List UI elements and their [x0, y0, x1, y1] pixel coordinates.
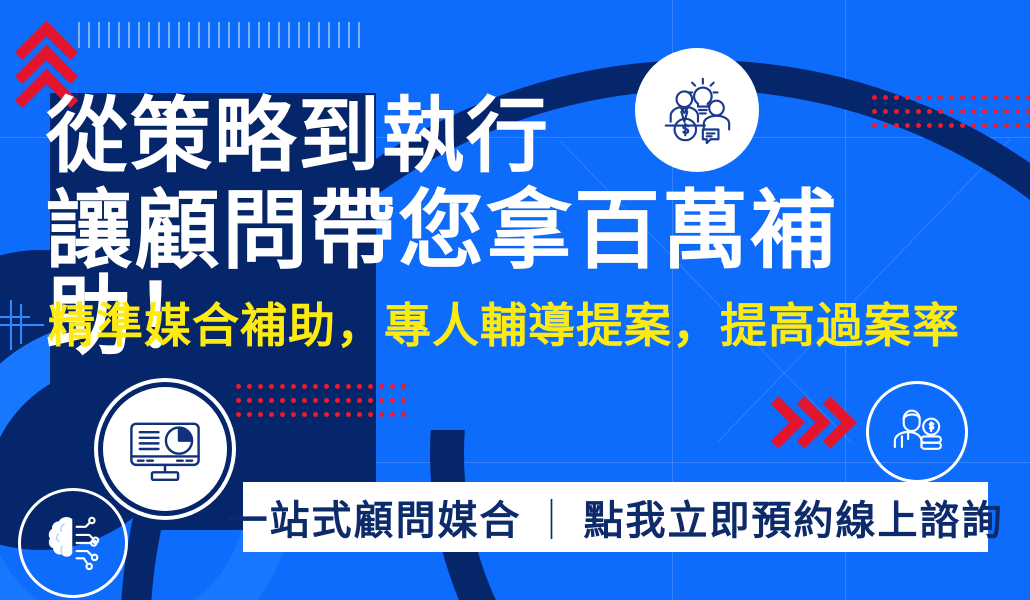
tick-mark: [208, 22, 210, 48]
dot: [280, 384, 285, 389]
dot: [269, 412, 274, 417]
dot: [291, 384, 296, 389]
dot: [379, 412, 384, 417]
dot: [1026, 109, 1030, 114]
dot: [368, 412, 373, 417]
tick-mark: [328, 22, 330, 48]
tick-mark: [278, 22, 280, 48]
headline-line-1: 從策略到執行: [46, 96, 1006, 178]
dot: [368, 398, 373, 403]
cta-button[interactable]: 一站式顧問媒合 ｜ 點我立即預約線上諮詢: [243, 482, 988, 552]
tick-mark: [128, 22, 130, 48]
dot: [313, 412, 318, 417]
dot: [390, 384, 395, 389]
dot: [1026, 123, 1030, 128]
dot: [335, 384, 340, 389]
consultant-money-icon: [866, 381, 968, 483]
brain-circuit-icon: [18, 488, 128, 598]
cta-right-label: 點我立即預約線上諮詢: [584, 488, 1004, 546]
dot: [258, 398, 263, 403]
dot: [247, 412, 252, 417]
dot: [401, 398, 406, 403]
dot: [346, 412, 351, 417]
chevron-right-triple-icon: [760, 400, 850, 440]
tick-mark: [158, 22, 160, 48]
tick-mark: [178, 22, 180, 48]
dot: [247, 398, 252, 403]
tick-mark: [268, 22, 270, 48]
dot: [346, 398, 351, 403]
tick-mark: [258, 22, 260, 48]
dot: [357, 384, 362, 389]
dot: [280, 398, 285, 403]
dot: [258, 384, 263, 389]
dot: [335, 398, 340, 403]
tick-mark: [228, 22, 230, 48]
decor-dot-grid: [236, 384, 412, 426]
dot: [324, 384, 329, 389]
dot: [269, 384, 274, 389]
decor-crosshair-icon: [0, 300, 44, 350]
tick-mark: [238, 22, 240, 48]
dot: [247, 384, 252, 389]
dot: [390, 412, 395, 417]
dot: [236, 384, 241, 389]
dot: [1015, 109, 1020, 114]
tick-mark: [168, 22, 170, 48]
dot: [236, 412, 241, 417]
dot: [368, 384, 373, 389]
tick-mark: [108, 22, 110, 48]
dot: [401, 384, 406, 389]
cta-left-label: 一站式顧問媒合: [228, 488, 522, 546]
tick-mark: [298, 22, 300, 48]
decor-tick-marks: [78, 22, 360, 48]
dot: [357, 398, 362, 403]
tick-mark: [358, 22, 360, 48]
dot: [302, 412, 307, 417]
tick-mark: [218, 22, 220, 48]
tick-mark: [138, 22, 140, 48]
dot: [346, 384, 351, 389]
dot: [357, 412, 362, 417]
tick-mark: [198, 22, 200, 48]
tick-mark: [348, 22, 350, 48]
dot: [313, 398, 318, 403]
dot: [302, 384, 307, 389]
tick-mark: [338, 22, 340, 48]
dot: [401, 412, 406, 417]
promo-banner: 從策略到執行 讓顧問帶您拿百萬補助！ 精準媒合補助，專人輔導提案，提高過案率 一…: [0, 0, 1030, 600]
dot: [313, 384, 318, 389]
dot: [335, 412, 340, 417]
tick-mark: [248, 22, 250, 48]
tick-mark: [88, 22, 90, 48]
dot: [291, 398, 296, 403]
subheadline: 精準媒合補助，專人輔導提案，提高過案率: [48, 300, 1008, 352]
dot: [302, 398, 307, 403]
dot: [258, 412, 263, 417]
dot: [236, 398, 241, 403]
cta-separator: ｜: [522, 488, 584, 546]
tick-mark: [288, 22, 290, 48]
dot: [280, 412, 285, 417]
tick-mark: [318, 22, 320, 48]
dot: [1015, 123, 1020, 128]
tick-mark: [308, 22, 310, 48]
dot: [1015, 95, 1020, 100]
dot: [1026, 95, 1030, 100]
tick-mark: [98, 22, 100, 48]
tick-mark: [148, 22, 150, 48]
dot: [390, 398, 395, 403]
dot: [324, 398, 329, 403]
dot: [379, 398, 384, 403]
dot: [291, 412, 296, 417]
dot: [269, 398, 274, 403]
tick-mark: [188, 22, 190, 48]
monitor-pie-chart-icon: [103, 387, 227, 511]
tick-mark: [118, 22, 120, 48]
dot: [379, 384, 384, 389]
dot: [324, 412, 329, 417]
